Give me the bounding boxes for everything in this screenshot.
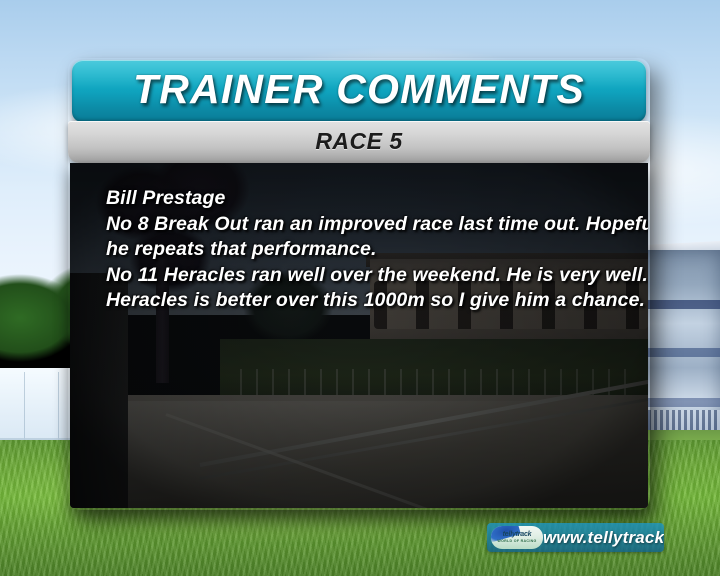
tellytrack-watermark[interactable]: tellytrack WORLD OF RACING www.tellytrac… [487,523,664,552]
title-bar: TRAINER COMMENTS [72,60,646,122]
page-title: TRAINER COMMENTS [72,60,646,122]
logo-name: tellytrack [503,531,532,539]
race-number-label: RACE 5 [68,121,650,163]
tellytrack-logo-icon: tellytrack WORLD OF RACING [491,526,543,549]
comment-line: he repeats that performance. [106,237,630,263]
comment-line: No 8 Break Out ran an improved race last… [106,212,630,238]
trainer-comments-text: Bill Prestage No 8 Break Out ran an impr… [106,186,630,314]
logo-tagline: WORLD OF RACING [497,539,536,544]
comment-line: Heracles is better over this 1000m so I … [106,288,630,314]
subtitle-bar: RACE 5 [68,121,650,163]
comment-line: Bill Prestage [106,186,630,212]
comment-line: No 11 Heracles ran well over the weekend… [106,263,630,289]
comments-panel: Bill Prestage No 8 Break Out ran an impr… [70,163,648,508]
broadcast-graphic-screen: TRAINER COMMENTS RACE 5 Bill Prestage No… [0,0,720,576]
watermark-url[interactable]: www.tellytrack.com [543,528,664,548]
